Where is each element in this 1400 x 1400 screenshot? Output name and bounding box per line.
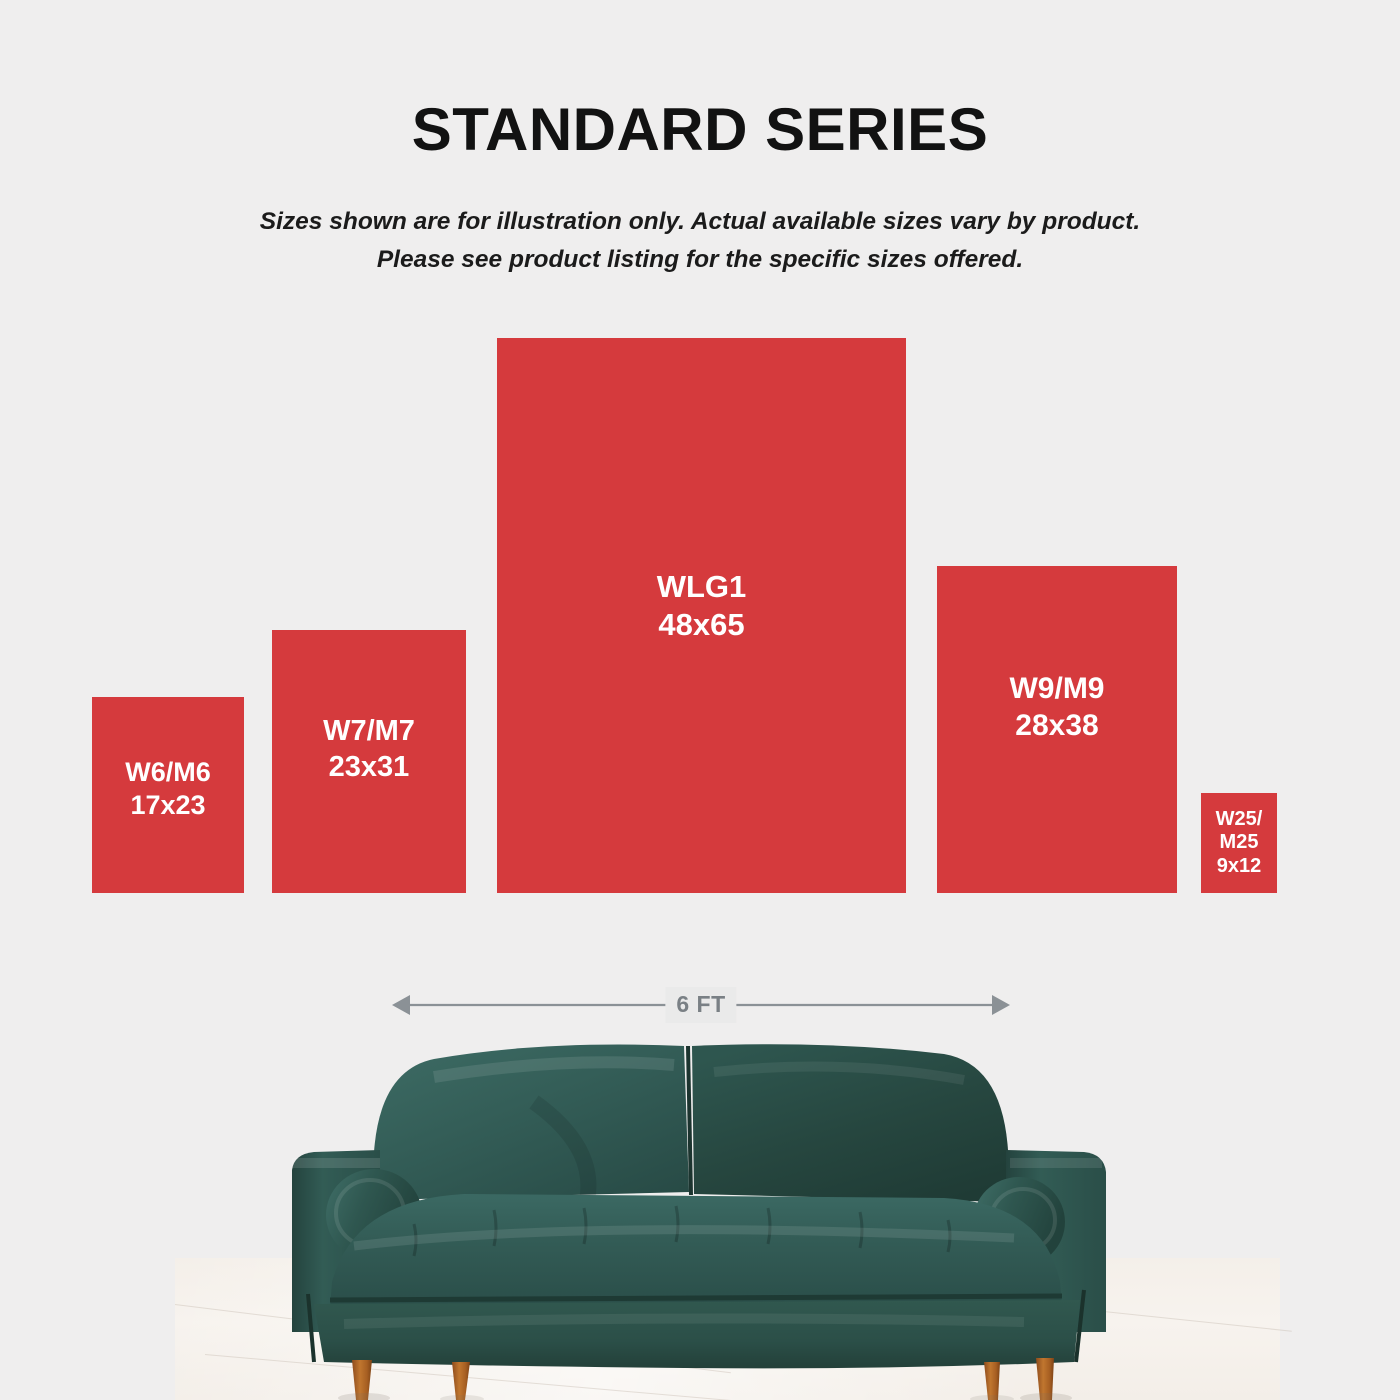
size-frame-w6-m6-dimensions: 17x23 xyxy=(125,789,211,822)
sofa-graphic xyxy=(284,1032,1116,1400)
sofa-seat-cushion xyxy=(330,1194,1062,1308)
sofa-skirt xyxy=(314,1300,1080,1368)
size-frame-w7-m7-name: W7/M7 xyxy=(323,714,415,749)
size-chart-page: STANDARD SERIES Sizes shown are for illu… xyxy=(0,0,1400,1400)
size-frame-w25-m25[interactable]: W25/ M25 9x12 xyxy=(1201,793,1277,893)
size-frame-w25-m25-name-line1: W25/ xyxy=(1216,808,1263,832)
size-frame-wlg1-dimensions: 48x65 xyxy=(657,606,747,644)
size-frame-w7-m7-labels: W7/M7 23x31 xyxy=(323,714,415,785)
size-frame-wlg1-name: WLG1 xyxy=(657,568,747,606)
size-frame-w6-m6-name: W6/M6 xyxy=(125,756,211,789)
arrow-left-icon xyxy=(392,995,410,1015)
sofa-arm-left-top-highlight xyxy=(292,1158,380,1168)
size-frame-w6-m6-labels: W6/M6 17x23 xyxy=(125,756,211,822)
sofa-skirt-highlight xyxy=(344,1318,1024,1324)
sofa-illustration xyxy=(284,1032,1116,1400)
size-frame-wlg1[interactable]: WLG1 48x65 xyxy=(497,338,906,893)
size-frame-w25-m25-dimensions: 9x12 xyxy=(1216,855,1263,879)
sofa-back-cushions xyxy=(374,1044,1008,1212)
size-frame-w6-m6[interactable]: W6/M6 17x23 xyxy=(92,697,244,893)
size-frame-w7-m7-dimensions: 23x31 xyxy=(323,750,415,785)
sofa-arm-right-top-highlight xyxy=(1010,1158,1102,1168)
sofa-seat-surface xyxy=(330,1194,1062,1308)
size-frame-w9-m9-dimensions: 28x38 xyxy=(1009,708,1104,745)
size-frame-w9-m9-labels: W9/M9 28x38 xyxy=(1009,671,1104,744)
size-frame-w25-m25-name-line2: M25 xyxy=(1216,831,1263,855)
sofa-leg-mid-left xyxy=(452,1362,470,1400)
measurement-arrow: 6 FT xyxy=(392,986,1010,1024)
size-frame-w9-m9[interactable]: W9/M9 28x38 xyxy=(937,566,1177,893)
size-frame-w7-m7[interactable]: W7/M7 23x31 xyxy=(272,630,466,893)
arrow-right-icon xyxy=(992,995,1010,1015)
size-frame-w9-m9-name: W9/M9 xyxy=(1009,671,1104,708)
sofa-shadow xyxy=(338,1393,1072,1400)
measurement-label: 6 FT xyxy=(665,987,736,1023)
size-frame-w25-m25-labels: W25/ M25 9x12 xyxy=(1216,808,1263,879)
size-frames-group: W6/M6 17x23 W7/M7 23x31 WLG1 48x65 W9/M9… xyxy=(0,0,1400,900)
sofa-leg-mid-right xyxy=(984,1362,1000,1400)
size-frame-wlg1-labels: WLG1 48x65 xyxy=(657,568,747,644)
sofa-back-cushion-seam xyxy=(688,1046,691,1195)
